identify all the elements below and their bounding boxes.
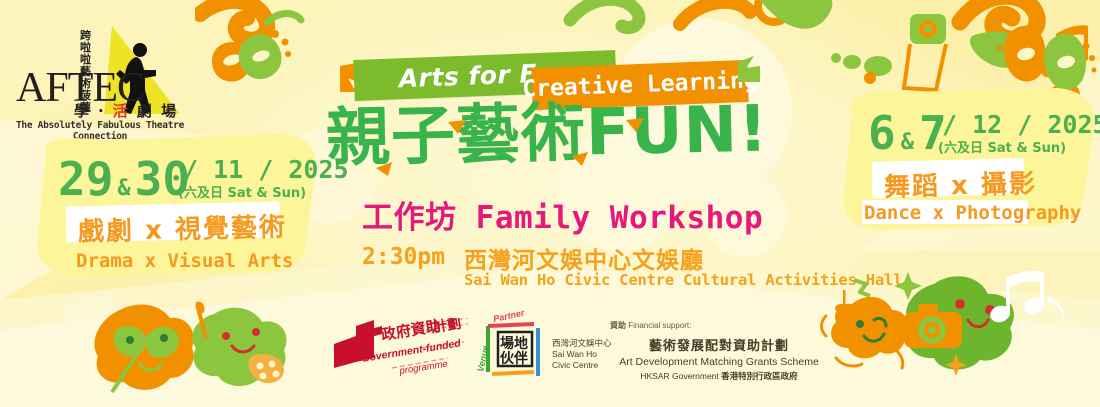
right-session-monthyear: / 12 / 2025 bbox=[942, 110, 1100, 139]
left-category-en: Drama x Visual Arts bbox=[76, 250, 293, 272]
aftec-logo: 跨啦啦藝術菠蘿 AFTEC 學 ‧ 活 劇 場 The Absolutely F… bbox=[14, 24, 186, 136]
right-session-weekdays: (六及日 Sat & Sun) bbox=[938, 137, 1066, 156]
left-session-date: 29&30 bbox=[58, 152, 190, 206]
venue-partner-name-zh: 西灣河文娛中心 bbox=[552, 338, 612, 349]
financial-support-label: 資助 Financial support: bbox=[610, 320, 834, 331]
left-session-weekdays: (六及日 Sat & Sun) bbox=[178, 182, 306, 201]
venue-name-zh: 西灣河文娛中心文娛廳 bbox=[464, 241, 704, 275]
venue-partner-label-partner: Partner bbox=[492, 310, 525, 324]
right-session-date: 6&7 bbox=[868, 106, 947, 160]
right-category-en: Dance x Photography bbox=[864, 202, 1081, 224]
venue-partner-name-en-2: Civic Centre bbox=[552, 360, 612, 371]
page-subtitle: 工作坊 Family Workshop bbox=[362, 192, 782, 237]
venue-partner-zh-2: 伙伴 bbox=[500, 350, 528, 367]
blob-art-character bbox=[184, 300, 294, 396]
left-session-monthyear: / 11 / 2025 bbox=[183, 155, 349, 184]
financial-support-label-en: Financial support: bbox=[628, 321, 691, 330]
left-amp: & bbox=[113, 176, 134, 201]
left-category-zh: 戲劇 x 視覺藝術 bbox=[78, 206, 288, 248]
financial-gov-zh: 香港特別行政區政府 bbox=[721, 372, 798, 382]
music-note-decoration bbox=[990, 270, 1070, 340]
venue-partner-graphic: 場地 伙伴 Partner Venue bbox=[476, 310, 552, 388]
venue-partner-name: 西灣河文娛中心 Sai Wan Ho Civic Centre bbox=[552, 338, 612, 371]
ribbon-orange-tail bbox=[738, 52, 760, 82]
financial-gov-en: HKSAR Government bbox=[640, 371, 718, 381]
logo-chinese-name: 學 ‧ 活 劇 場 bbox=[74, 100, 178, 121]
government-funded-logo: 政府資助 計劃 Government-funded programme bbox=[330, 318, 470, 380]
gov-funded-zh-plan: 計劃 bbox=[432, 318, 462, 336]
financial-gov: HKSAR Government 香港特別行政區政府 bbox=[604, 370, 834, 382]
financial-support-block: 資助 Financial support: 藝術發展配對資助計劃 Art Dev… bbox=[604, 320, 834, 382]
financial-scheme-en: Art Development Matching Grants Scheme bbox=[604, 356, 834, 368]
financial-support-label-zh: 資助 bbox=[610, 321, 626, 330]
left-day-first: 29 bbox=[58, 152, 113, 206]
venue-partner-zh-1: 場地 bbox=[500, 335, 528, 352]
title-accents bbox=[330, 96, 790, 180]
promotional-banner: 跨啦啦藝術菠蘿 AFTEC 學 ‧ 活 劇 場 The Absolutely F… bbox=[0, 0, 1100, 407]
venue-partner-name-en-1: Sai Wan Ho bbox=[552, 349, 612, 360]
event-time: 2:30pm bbox=[362, 244, 445, 270]
right-amp: & bbox=[896, 130, 919, 155]
gov-funded-graphic: 政府資助 計劃 Government-funded programme bbox=[330, 318, 470, 380]
venue-partner-logo: 場地 伙伴 Partner Venue 西灣河文娛中心 Sai Wan Ho C… bbox=[476, 310, 596, 388]
right-category-zh: 舞蹈 x 攝影 bbox=[884, 163, 1038, 204]
right-day-first: 6 bbox=[868, 106, 896, 160]
financial-scheme-zh: 藝術發展配對資助計劃 bbox=[604, 335, 834, 354]
gov-funded-en-2: programme bbox=[398, 358, 449, 377]
